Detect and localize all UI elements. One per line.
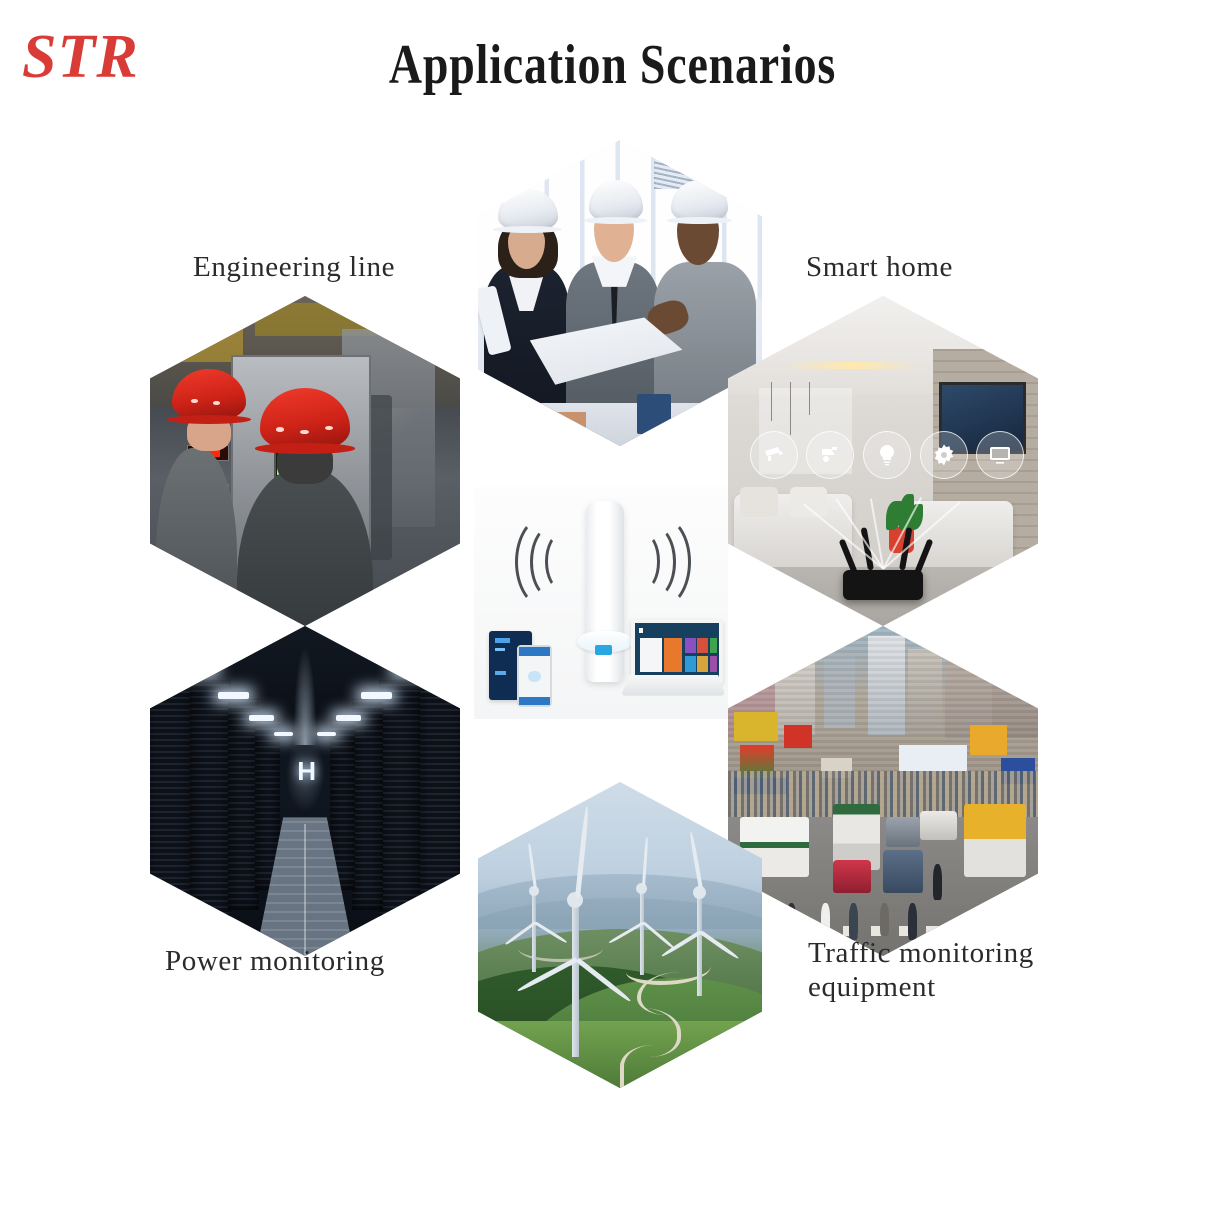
wind-turbine [572, 898, 579, 1057]
pedestrian [880, 903, 889, 936]
pedestrian [821, 903, 830, 936]
worker-background [156, 448, 237, 620]
laptop-screen [631, 619, 723, 683]
poster-canvas: STR Application Scenarios [0, 0, 1225, 1225]
pedestrian [787, 903, 796, 939]
label-engineering-line: Engineering line [193, 250, 395, 284]
aisle-marking: H [297, 758, 313, 788]
hex-cell-engineering-line[interactable] [150, 296, 460, 626]
white-hard-hat [671, 180, 728, 223]
hex-cell-traffic-monitoring[interactable] [728, 626, 1038, 956]
hex-cell-power-monitoring[interactable]: H [150, 626, 460, 956]
engineering-meeting-scene [478, 140, 762, 446]
double-decker-bus [964, 804, 1026, 877]
label-power-monitoring: Power monitoring [165, 944, 385, 978]
page-title: Application Scenarios [110, 34, 1115, 96]
van-white [920, 811, 957, 841]
label-traffic-monitoring: Traffic monitoring equipment [808, 936, 1078, 1004]
engineering-line-scene [150, 296, 460, 626]
pedestrian [908, 903, 917, 939]
robot-vacuum-icon[interactable] [806, 431, 854, 479]
hex-cell-smart-home[interactable] [728, 296, 1038, 626]
wifi-router [843, 570, 924, 600]
car-blue [883, 850, 923, 893]
briefcase [637, 394, 671, 434]
cctv-camera-icon[interactable] [750, 431, 798, 479]
smartphone-device [517, 645, 551, 707]
car-red [833, 860, 870, 893]
pedestrian [768, 903, 777, 936]
hex-cell-meeting[interactable] [478, 140, 762, 446]
wifi-wave-icon [515, 515, 577, 609]
cpe-status-led [595, 645, 613, 655]
smart-home-scene [728, 296, 1038, 626]
pedestrian [933, 864, 942, 900]
monitor-icon[interactable] [976, 431, 1024, 479]
car-grey [886, 817, 920, 847]
wifi-wave-icon [629, 515, 691, 609]
traffic-monitoring-scene [728, 626, 1038, 956]
pedestrian [849, 903, 858, 939]
power-monitoring-scene: H [150, 626, 460, 956]
light-bulb-icon[interactable] [863, 431, 911, 479]
laptop-base [621, 675, 725, 696]
center-product-group [474, 487, 728, 719]
wind-farm-scene [478, 782, 762, 1088]
label-smart-home: Smart home [806, 250, 953, 284]
hex-cell-wind-farm[interactable] [478, 782, 762, 1088]
